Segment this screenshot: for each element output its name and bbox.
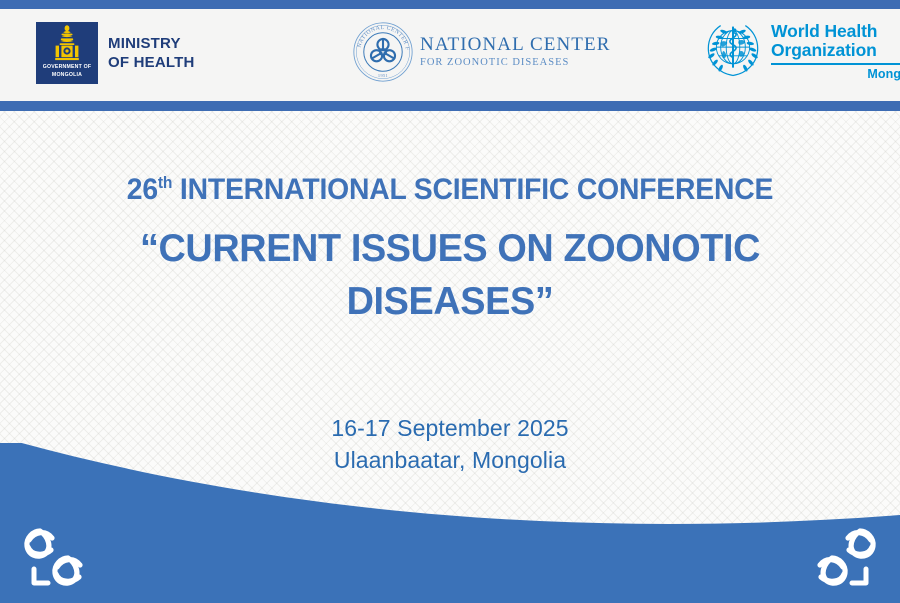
theme-line-1: “CURRENT ISSUES ON ZOONOTIC [14,222,887,275]
event-date: 16-17 September 2025 [0,412,900,444]
header-divider-rule [0,101,900,111]
conference-ordinal-suffix: th [158,174,172,192]
conference-number: 26 [127,173,158,206]
national-center-zoonotic-diseases-logo: NATIONAL CENTER FOR ZOONOTIC DISEASES 19… [352,21,610,83]
ministry-label-line1: MINISTRY [108,34,195,53]
mongolian-ulzii-knot-ornament-right [802,523,888,593]
who-wordmark: World Health Organization Mongolia [771,22,900,81]
who-mongolia-logo: World Health Organization Mongolia [702,20,900,81]
mongolia-government-crest: GOVERNMENT OF MONGOLIA [36,22,98,84]
ministry-of-health-logo: GOVERNMENT OF MONGOLIA MINISTRY OF HEALT… [36,22,195,84]
conference-title-slide: GOVERNMENT OF MONGOLIA MINISTRY OF HEALT… [0,0,900,603]
bottom-wave-decoration [0,443,900,603]
conference-edition-line: 26th INTERNATIONAL SCIENTIFIC CONFERENCE [18,170,882,210]
who-emblem-icon [702,20,764,78]
mongolian-ulzii-knot-ornament-left [12,523,98,593]
top-accent-bar [0,0,900,9]
national-center-wordmark: NATIONAL CENTER FOR ZOONOTIC DISEASES [420,34,610,70]
national-center-name-line2: FOR ZOONOTIC DISEASES [420,56,610,70]
zoonotic-center-seal-icon: NATIONAL CENTER FOR ZOONOTIC DISEASES 19… [352,21,414,83]
who-name-line1: World Health [771,22,900,41]
wave-primary-shape [0,443,900,603]
crest-caption-line2: MONGOLIA [52,72,82,79]
ministry-label-line2: OF HEALTH [108,53,195,72]
crest-caption-line1: GOVERNMENT OF [43,64,91,71]
soyombo-symbol-icon [50,25,84,63]
ministry-of-health-wordmark: MINISTRY OF HEALTH [108,34,195,72]
who-divider-line [771,63,900,65]
seal-year-label: 1951 [378,73,388,78]
theme-line-2: DISEASES” [14,275,887,328]
title-block: 26th INTERNATIONAL SCIENTIFIC CONFERENCE… [0,170,900,328]
who-country-label: Mongolia [771,67,900,81]
national-center-name-line1: NATIONAL CENTER [420,34,610,56]
conference-theme-title: “CURRENT ISSUES ON ZOONOTIC DISEASES” [14,222,887,328]
who-name-line2: Organization [771,41,900,60]
conference-line-rest: INTERNATIONAL SCIENTIFIC CONFERENCE [172,173,773,206]
